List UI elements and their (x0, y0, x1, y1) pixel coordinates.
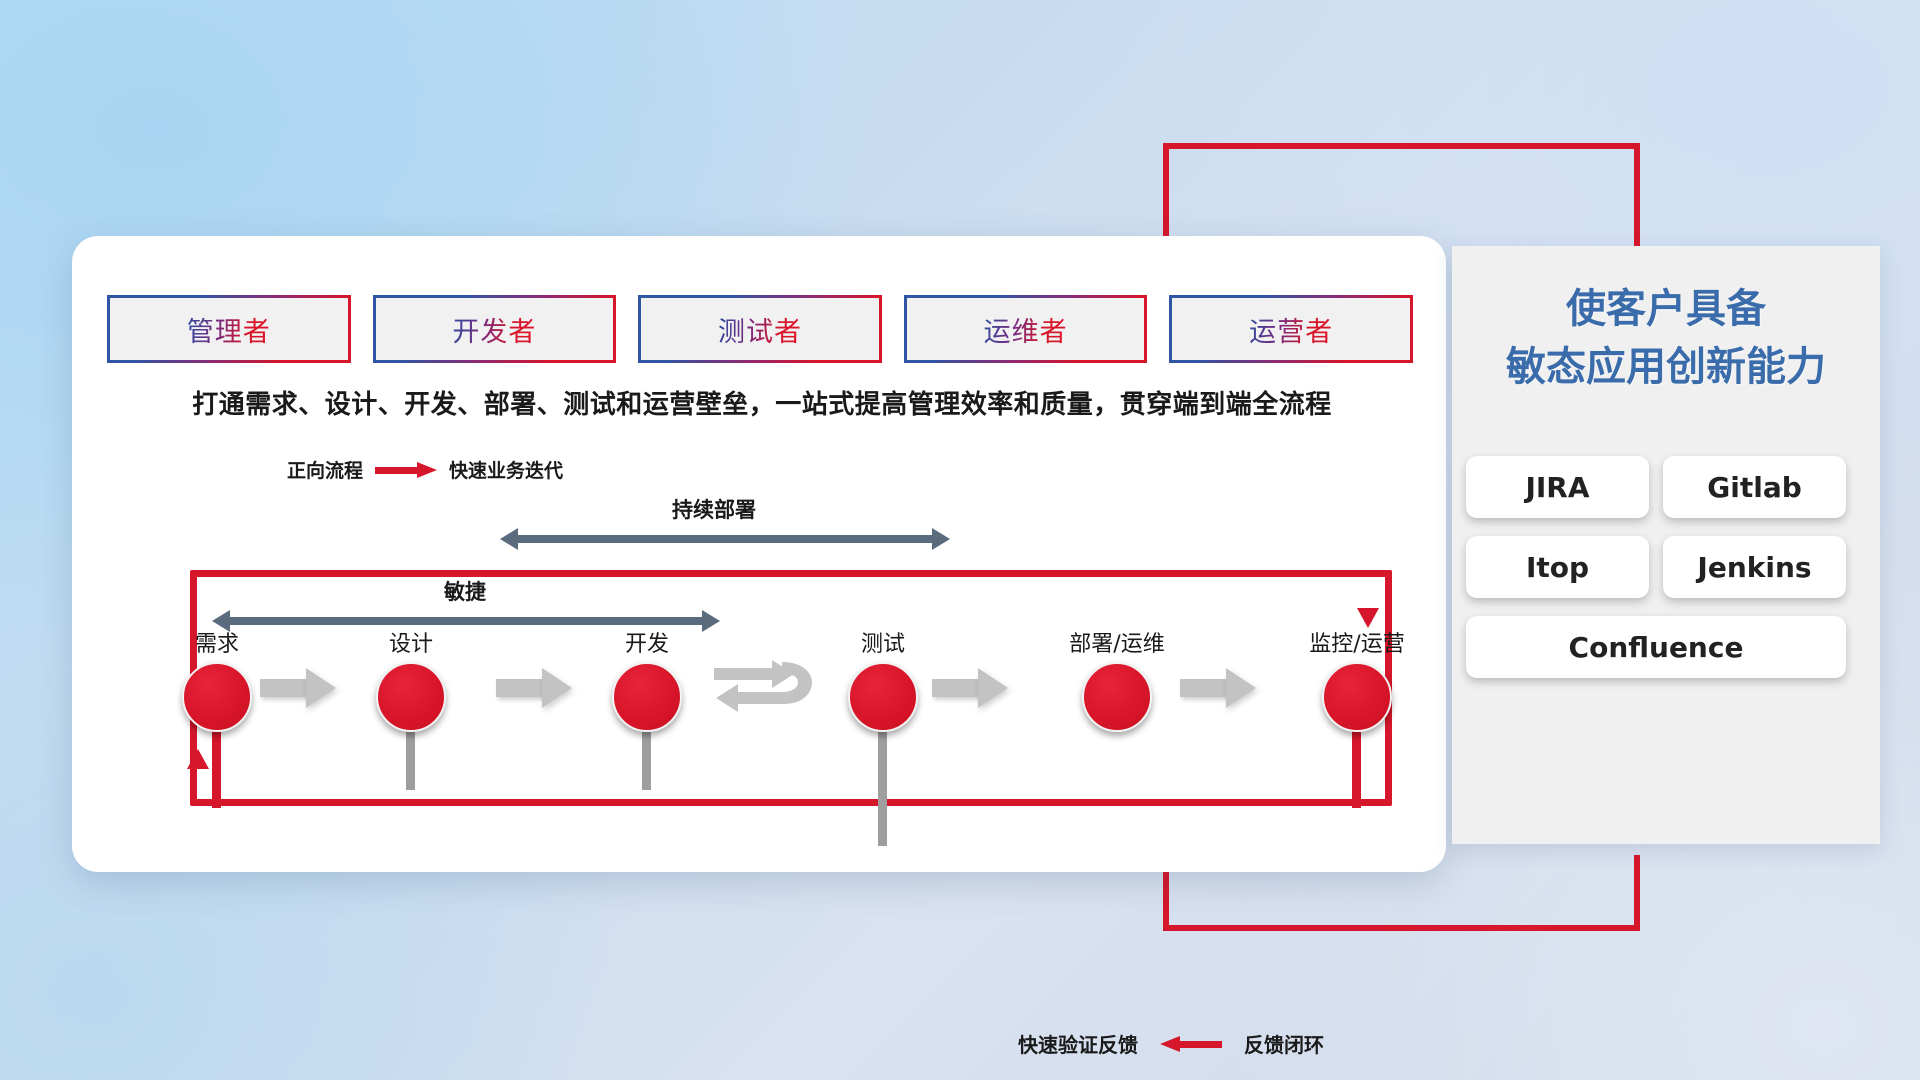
role-box-inner: 管理者 (110, 298, 348, 360)
arrow-right-gray-icon (1180, 668, 1256, 708)
legend-forward-right-label: 快速业务迭代 (449, 456, 563, 483)
main-diagram-card: 管理者 开发者 测试者 运维者 运营者 (72, 236, 1446, 872)
role-box-operations[interactable]: 运营者 (1172, 298, 1410, 360)
role-box-inner: 测试者 (641, 298, 879, 360)
pipeline-node-develop[interactable]: 开发 (587, 626, 707, 732)
arrow-left-red-icon (1160, 1036, 1222, 1052)
slide-canvas: 管理者 开发者 测试者 运维者 运营者 (0, 0, 1920, 1080)
node-stem (878, 728, 887, 846)
tool-chip-confluence[interactable]: Confluence (1466, 616, 1846, 678)
legend-forward-flow: 正向流程 快速业务迭代 (287, 456, 563, 483)
pipeline-node-requirement[interactable]: 需求 (157, 626, 277, 732)
pipeline-node-label: 设计 (351, 626, 471, 658)
pipeline-node-deploy-ops[interactable]: 部署/运维 (1037, 626, 1197, 732)
value-panel: 使客户具备 敏态应用创新能力 JIRA Gitlab Itop Jenkins … (1452, 246, 1880, 844)
node-stem-red (212, 728, 221, 808)
devops-pipeline: 需求 设计 开发 测试 部署/运维 监控/运营 (112, 626, 1412, 746)
pipeline-node-monitor-operate[interactable]: 监控/运营 (1277, 626, 1437, 732)
red-loop-arrowhead-down (1357, 608, 1379, 628)
role-box-inner: 开发者 (376, 298, 614, 360)
panel-title-line2: 敏态应用创新能力 (1452, 338, 1880, 396)
node-stem-red (1352, 728, 1361, 808)
pipeline-node-dot (182, 662, 252, 732)
card-headline: 打通需求、设计、开发、部署、测试和运营壁垒，一站式提高管理效率和质量，贯穿端到端… (112, 384, 1412, 421)
legend-feedback-right-label: 反馈闭环 (1244, 1029, 1324, 1058)
double-arrow-continuous-deploy-icon (500, 528, 950, 550)
panel-title-line1: 使客户具备 (1452, 246, 1880, 338)
pipeline-node-label: 部署/运维 (1037, 626, 1197, 658)
legend-feedback-loop: 快速验证反馈 反馈闭环 (1018, 1029, 1324, 1058)
role-label: 运维者 (984, 310, 1068, 349)
legend-feedback-left-label: 快速验证反馈 (1018, 1029, 1138, 1058)
tool-chip-grid: JIRA Gitlab Itop Jenkins Confluence (1466, 456, 1866, 678)
node-stem (406, 728, 415, 790)
tool-chip-itop[interactable]: Itop (1466, 536, 1649, 598)
role-label: 运营者 (1249, 310, 1333, 349)
pipeline-node-dot (1322, 662, 1392, 732)
pipeline-node-dot (612, 662, 682, 732)
loop-back-gray-icon (712, 652, 816, 724)
arrow-right-gray-icon (260, 668, 336, 708)
pipeline-node-label: 监控/运营 (1277, 626, 1437, 658)
node-stem (642, 728, 651, 790)
role-box-ops[interactable]: 运维者 (907, 298, 1145, 360)
role-box-manager[interactable]: 管理者 (110, 298, 348, 360)
tool-chip-jenkins[interactable]: Jenkins (1663, 536, 1846, 598)
pipeline-node-label: 测试 (823, 626, 943, 658)
pipeline-node-dot (376, 662, 446, 732)
tool-chip-jira[interactable]: JIRA (1466, 456, 1649, 518)
arrow-right-gray-icon (496, 668, 572, 708)
role-box-row: 管理者 开发者 测试者 运维者 运营者 (110, 298, 1410, 360)
role-box-inner: 运营者 (1172, 298, 1410, 360)
tool-chip-gitlab[interactable]: Gitlab (1663, 456, 1846, 518)
pipeline-node-dot (1082, 662, 1152, 732)
role-label: 测试者 (718, 310, 802, 349)
pipeline-node-design[interactable]: 设计 (351, 626, 471, 732)
role-box-inner: 运维者 (907, 298, 1145, 360)
role-box-tester[interactable]: 测试者 (641, 298, 879, 360)
red-loop-arrowhead-up (187, 749, 209, 769)
pipeline-node-dot (848, 662, 918, 732)
role-label: 开发者 (452, 310, 536, 349)
pipeline-node-test[interactable]: 测试 (823, 626, 943, 732)
pipeline-node-label: 开发 (587, 626, 707, 658)
pipeline-node-label: 需求 (157, 626, 277, 658)
role-box-developer[interactable]: 开发者 (376, 298, 614, 360)
role-label: 管理者 (187, 310, 271, 349)
legend-forward-left-label: 正向流程 (287, 456, 363, 483)
span-label-continuous-deploy: 持续部署 (672, 494, 756, 524)
arrow-right-gray-icon (932, 668, 1008, 708)
arrow-right-red-icon (375, 462, 437, 478)
